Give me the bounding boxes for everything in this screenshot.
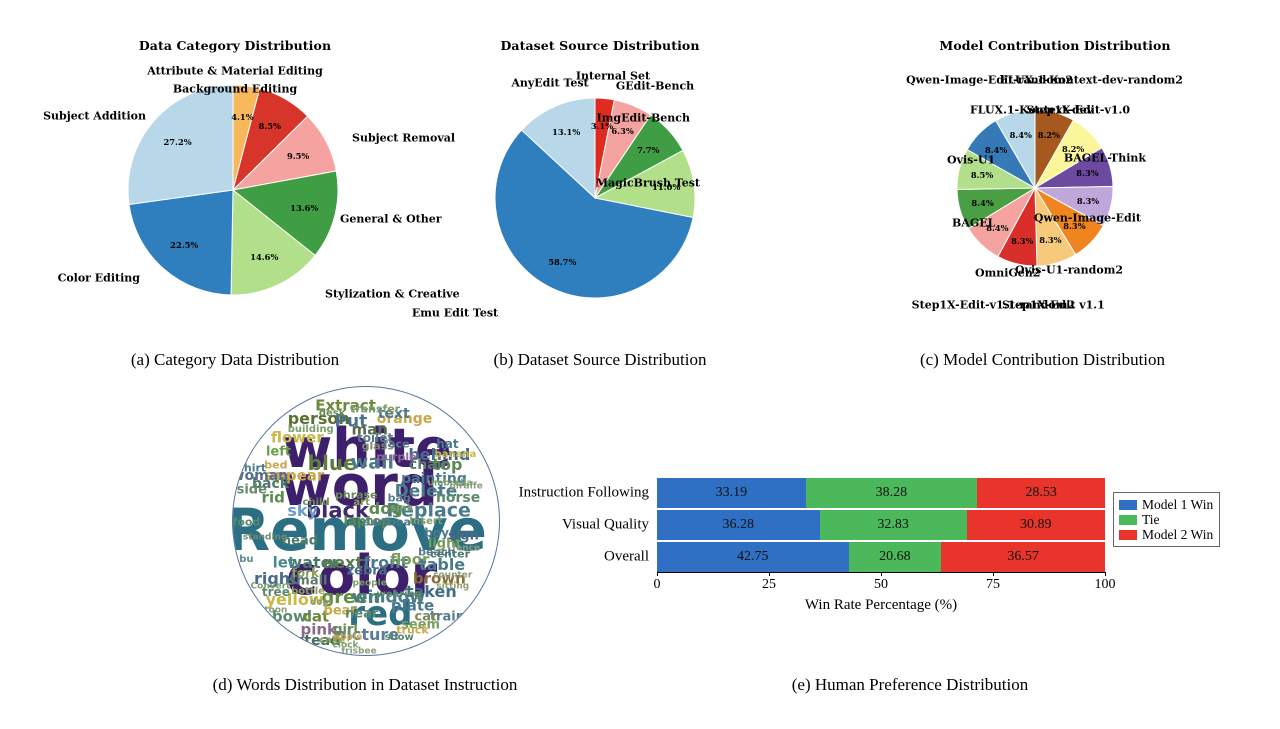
subcaption-b: (b) Dataset Source Distribution [405, 350, 795, 370]
bar-segment-value: 36.28 [723, 517, 755, 533]
legend-item[interactable]: Tie [1119, 512, 1213, 527]
wordcloud-word: show [385, 633, 414, 643]
bar-chart-legend: Model 1 WinTieModel 2 Win [1113, 492, 1220, 547]
pie-slice-percentage: 13.1% [552, 127, 580, 137]
bar-segment-value: 32.83 [877, 517, 909, 533]
bar-segment-value: 38.28 [876, 485, 908, 501]
legend-label: Model 1 Win [1142, 497, 1213, 513]
pie-b-label-1: GEdit-Bench [616, 80, 694, 93]
x-axis-tick-label: 100 [1095, 577, 1116, 593]
bar-segment: 42.75 [657, 542, 849, 572]
bar-segment: 33.19 [657, 478, 806, 508]
panel-human-preference-distribution: 33.1938.2828.53Instruction Following36.2… [500, 460, 1280, 620]
pie-c-label-9: Ovis-U1 [947, 154, 995, 167]
pie-b-label-2: ImgEdit-Bench [597, 112, 690, 125]
x-axis-tick [993, 572, 994, 576]
bar-segment-value: 20.68 [879, 549, 911, 565]
subcaption-c: (c) Model Contribution Distribution [805, 350, 1280, 370]
wordcloud-word: people [352, 580, 386, 589]
wordcloud-word: art [353, 498, 369, 508]
wordcloud-word: left [266, 445, 291, 458]
pie-slice-percentage: 58.7% [548, 257, 576, 267]
x-axis-label: Win Rate Percentage (%) [805, 597, 957, 614]
wordcloud-word: zebra [347, 564, 388, 577]
bar-row: 33.1938.2828.53 [657, 478, 1105, 508]
panel-words-distribution: whitewordRemovecolorredblackbluewallRepl… [232, 386, 500, 656]
x-axis-tick-label: 25 [762, 577, 776, 593]
wordcloud-word: banana [435, 450, 477, 460]
bar-row: 36.2832.8330.89 [657, 510, 1105, 540]
pie-a-label-5: Color Editing [58, 272, 140, 285]
wordcloud-word: face [383, 438, 409, 449]
pie-b-label-3: MagicBrush Test [596, 177, 700, 190]
wordcloud-word: food [233, 517, 261, 528]
x-axis-tick-label: 75 [986, 577, 1000, 593]
legend-item[interactable]: Model 2 Win [1119, 527, 1213, 542]
bar-segment: 36.57 [941, 542, 1105, 572]
x-axis-tick-label: 0 [654, 577, 661, 593]
panel-dataset-source-distribution: Dataset Source Distribution 3.1%6.3%7.7%… [400, 38, 800, 338]
pie-c-label-2: BAGEL-Think [1064, 152, 1146, 165]
pie-a-label-1: Background Editing [173, 83, 297, 96]
panel-category-data-distribution: Data Category Distribution 4.1%8.5%9.5%1… [30, 38, 440, 338]
wordcloud-word: wearing [376, 590, 421, 600]
legend-swatch [1119, 530, 1137, 540]
wordcloud-word: sink [390, 504, 413, 514]
pie-slice-percentage: 8.3% [1039, 235, 1061, 245]
pie-slice-percentage: 8.3% [1077, 196, 1099, 206]
pie-a-label-6: Subject Addition [43, 110, 146, 123]
bar-segment-value: 30.89 [1020, 517, 1052, 533]
bar-category-label: Visual Quality [562, 517, 649, 534]
wordcloud-word: boy [424, 527, 449, 539]
pie-b-label-5: AnyEdit Test [511, 77, 588, 90]
pie-c-label-11: FLUX.1-Kontext-dev-random2 [1000, 74, 1183, 87]
stacked-bar-chart: 33.1938.2828.53Instruction Following36.2… [500, 460, 1280, 620]
pie-slice-percentage: 27.2% [164, 137, 192, 147]
panel-model-contribution-distribution: Model Contribution Distribution 8.2%8.2%… [830, 38, 1280, 338]
pie-slice-percentage: 13.6% [290, 203, 318, 213]
bar-row: 42.7520.6836.57 [657, 542, 1105, 572]
pie-slice-percentage: 8.2% [1038, 130, 1060, 140]
wordcloud-word: sitting [436, 582, 469, 591]
bar-segment-value: 33.19 [716, 485, 748, 501]
wordcloud-word: fork [292, 567, 319, 579]
pie-c-label-3: Qwen-Image-Edit [1034, 212, 1141, 225]
wordcloud-word: bu [239, 555, 253, 565]
pie-slice-percentage: 8.4% [971, 198, 993, 208]
legend-item[interactable]: Model 1 Win [1119, 497, 1213, 512]
wordcloud-word: frisbee [341, 647, 376, 656]
pie-slice-percentage: 22.5% [170, 240, 198, 250]
wordcloud-word: apple [334, 634, 362, 643]
bar-segment: 38.28 [806, 478, 977, 508]
x-axis-tick-label: 50 [874, 577, 888, 593]
pie-slice-percentage: 8.3% [1011, 236, 1033, 246]
pie-a-label-0: Attribute & Material Editing [147, 65, 323, 78]
bar-segment-value: 28.53 [1025, 485, 1057, 501]
pie-slice-percentage: 6.3% [611, 126, 633, 136]
bar-segment: 20.68 [849, 542, 942, 572]
pie-c-label-6: Step1X-Edit v1.1 [1002, 299, 1105, 312]
legend-swatch [1119, 500, 1137, 510]
wordcloud-word: standing [243, 534, 288, 543]
pie-slice-percentage: 8.4% [1010, 130, 1032, 140]
pie-slice-percentage: 9.5% [287, 151, 309, 161]
legend-label: Model 2 Win [1142, 527, 1213, 543]
wordcloud-word: bottle [291, 587, 325, 597]
legend-label: Tie [1142, 512, 1160, 528]
wordcloud-word: door [310, 599, 333, 608]
x-axis-tick [1105, 572, 1106, 576]
wordcloud-word: Insert [409, 517, 442, 527]
wordcloud-word: umbrella [428, 480, 473, 489]
wordcloud-word: cartoon [248, 607, 287, 616]
pie-slice-percentage: 8.3% [1076, 168, 1098, 178]
wordcloud-word: shirt [237, 463, 266, 474]
wordcloud-word: bed [264, 460, 287, 471]
subcaption-a: (a) Category Data Distribution [0, 350, 470, 370]
wordcloud-word: near [345, 607, 378, 620]
wordcloud-word: child [303, 498, 330, 508]
bar-segment: 32.83 [820, 510, 967, 540]
wordcloud-word: Convert [251, 582, 291, 591]
legend-swatch [1119, 515, 1137, 525]
wordcloud-word: counter [433, 572, 472, 581]
x-axis-tick [881, 572, 882, 576]
bar-segment: 30.89 [967, 510, 1105, 540]
pie-c-label-7: OmniGen2 [975, 267, 1040, 280]
wordcloud-word: horse [436, 491, 480, 505]
x-axis-tick [769, 572, 770, 576]
pie-slice-percentage: 14.6% [250, 252, 278, 262]
pie-b-label-4: Emu Edit Test [412, 307, 498, 320]
wordcloud: whitewordRemovecolorredblackbluewallRepl… [232, 386, 500, 656]
bar-segment: 36.28 [657, 510, 820, 540]
wordcloud-word: purple [376, 452, 416, 463]
bar-category-label: Overall [604, 549, 649, 566]
x-axis-tick [657, 572, 658, 576]
subcaption-d: (d) Words Distribution in Dataset Instru… [110, 675, 620, 695]
wordcloud-word: side [237, 483, 267, 496]
pie-slice-percentage: 8.5% [259, 121, 281, 131]
wordcloud-word: sign [448, 529, 479, 542]
bar-segment: 28.53 [977, 478, 1105, 508]
bar-segment-value: 42.75 [737, 549, 769, 565]
bar-segment-value: 36.57 [1007, 549, 1039, 565]
bar-category-label: Instruction Following [519, 485, 649, 502]
wordcloud-word: desk [319, 409, 346, 419]
pie-slice-percentage: 4.1% [231, 112, 253, 122]
wordcloud-word: fence [452, 545, 480, 554]
subcaption-e: (e) Human Preference Distribution [660, 675, 1160, 695]
wordcloud-word: building [288, 425, 334, 435]
pie-c-label-8: BAGEL [952, 217, 995, 230]
pie-slice-percentage: 8.5% [971, 170, 993, 180]
wordcloud-word: transfer [350, 403, 400, 414]
pie-c-label-10: FLUX.1-Kontext-dev [970, 104, 1093, 117]
pie-slice-percentage: 7.7% [637, 145, 659, 155]
